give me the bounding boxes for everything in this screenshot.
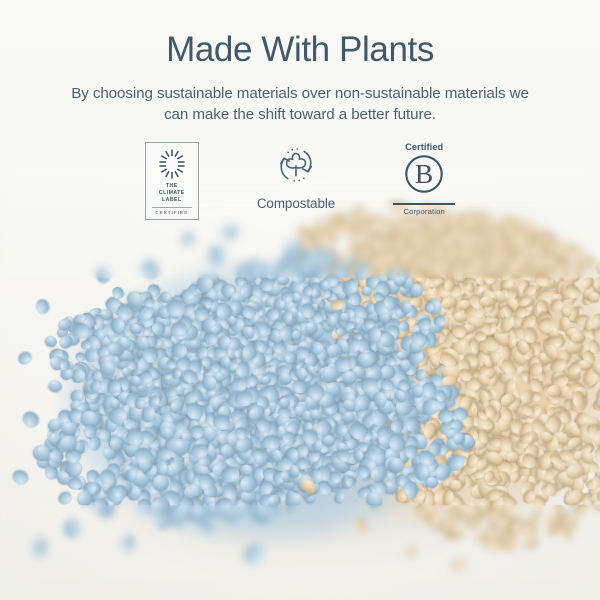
- climate-label-frame: THE CLIMATE LABEL CERTIFIED: [145, 142, 199, 221]
- pellet: [592, 313, 600, 327]
- pellet: [284, 240, 303, 257]
- climate-divider: [152, 207, 192, 208]
- badge-b-corporation: Certified B Corporation: [393, 142, 455, 216]
- pellet: [333, 491, 346, 505]
- pellet: [281, 292, 293, 303]
- pellet: [241, 542, 267, 567]
- b-corp-letter: B: [415, 158, 433, 189]
- pellet: [455, 275, 465, 282]
- pellet: [353, 517, 366, 534]
- pellet: [337, 265, 348, 278]
- pellet: [234, 391, 252, 407]
- pellet: [16, 349, 34, 366]
- climate-line-1: THE: [151, 183, 193, 190]
- sunburst-icon: [156, 148, 188, 180]
- pellet: [10, 467, 31, 487]
- clover-recycle-icon: [269, 142, 323, 188]
- pellet: [260, 376, 271, 384]
- bcorp-divider: [393, 203, 455, 205]
- pellet: [522, 534, 538, 548]
- bcorp-certified-text: Certified: [393, 142, 455, 152]
- pellet: [480, 295, 494, 307]
- pellet: [403, 480, 418, 498]
- pellet: [172, 438, 190, 454]
- b-corp-icon: B: [403, 153, 445, 195]
- compostable-label: Compostable: [257, 196, 335, 211]
- climate-certified-text: CERTIFIED: [151, 210, 193, 215]
- pellet: [97, 267, 111, 283]
- pellet: [545, 482, 557, 496]
- bcorp-corporation-text: Corporation: [393, 207, 455, 216]
- badge-compostable: Compostable: [257, 142, 335, 211]
- pellet: [454, 312, 468, 322]
- pellet: [28, 536, 50, 559]
- pellet: [43, 334, 59, 349]
- pellet: [19, 408, 42, 431]
- badge-climate-label: THE CLIMATE LABEL CERTIFIED: [145, 142, 199, 221]
- pellet: [63, 517, 83, 539]
- pellet: [138, 258, 161, 282]
- pellet: [165, 359, 177, 369]
- product-banner: Made With Plants By choosing sustainable…: [0, 0, 600, 600]
- header-panel: Made With Plants By choosing sustainable…: [0, 0, 600, 215]
- pellet: [47, 379, 63, 394]
- pellet: [277, 275, 289, 285]
- page-subtitle: By choosing sustainable materials over n…: [65, 83, 535, 126]
- pellet: [178, 229, 197, 247]
- page-title: Made With Plants: [0, 0, 600, 69]
- climate-line-2: CLIMATE: [151, 190, 193, 197]
- pellet: [60, 436, 77, 451]
- pellet: [34, 297, 51, 315]
- climate-label-wordmark: THE CLIMATE LABEL: [151, 183, 193, 205]
- climate-line-3: LABEL: [151, 197, 193, 204]
- pellet: [56, 489, 74, 507]
- pellet: [291, 268, 306, 284]
- pellet: [207, 243, 228, 266]
- pellet: [119, 533, 137, 552]
- pellet: [403, 544, 418, 557]
- pellet: [547, 417, 560, 433]
- pellet: [489, 534, 504, 551]
- certification-badge-row: THE CLIMATE LABEL CERTIFIED: [0, 142, 600, 221]
- pellet: [450, 557, 468, 574]
- pellet: [222, 224, 239, 239]
